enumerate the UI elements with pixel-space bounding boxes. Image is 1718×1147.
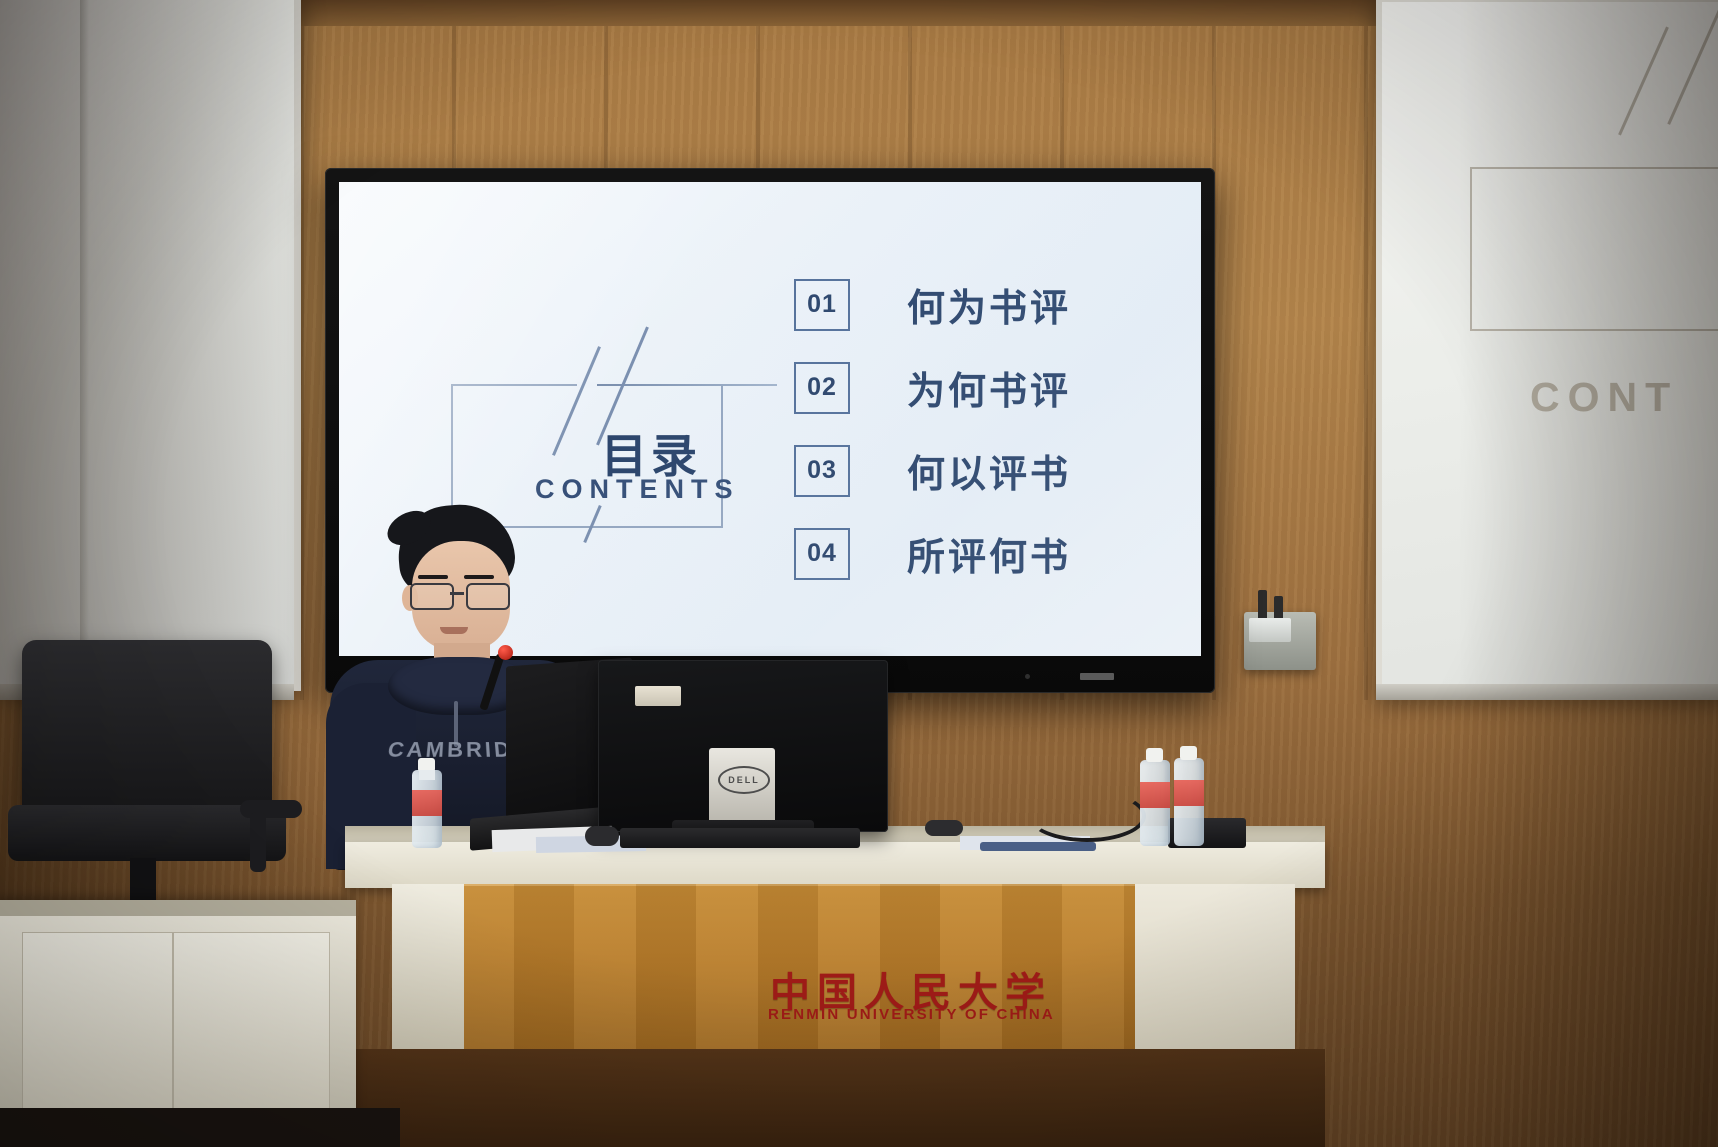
podium-right-panel [1135,884,1295,1049]
office-chair-back [22,640,272,820]
side-cabinet-door-seam [172,932,174,1128]
office-chair-post [130,858,156,906]
office-chair-armrest-post [250,812,266,872]
bottle-label [412,790,442,816]
glasses-icon [410,583,514,607]
podium-side-panel [392,884,464,1049]
marker-tray [1244,612,1316,670]
eyebrow [464,575,494,579]
bottle-label [1140,782,1170,808]
glasses-lens [410,583,454,610]
desk-microphone [925,820,963,836]
eraser-icon [1249,618,1291,642]
cable-coil [1028,790,1146,842]
side-cabinet-door[interactable] [22,932,330,1130]
list-item: 02 为何书评 [794,360,1071,415]
keyboard[interactable] [620,828,860,848]
glasses-bridge [450,592,464,595]
glasses-lens [466,583,510,610]
list-item: 01 何为书评 [794,277,1071,332]
list-item: 04 所评何书 [794,526,1071,581]
podium-base-shadow [345,1049,1325,1147]
power-led-icon [1025,674,1030,679]
slide-contents-list: 01 何为书评 02 为何书评 03 何以评书 04 所评何书 [794,277,1071,609]
item-number: 04 [794,528,850,580]
item-label: 何以评书 [907,443,1071,498]
item-number: 01 [794,279,850,331]
wall-shadow-right [1458,0,1718,1147]
bottle-cap [1180,746,1197,760]
display-brand-plate [1080,673,1114,680]
list-item: 03 何以评书 [794,443,1071,498]
screenshot-root: CONT 目录 CONTENTS 01 何为书评 [0,0,1718,1147]
mouse[interactable] [585,826,619,846]
side-cabinet-top [0,900,356,916]
item-number: 02 [794,362,850,414]
blue-folder [980,842,1096,851]
item-label: 为何书评 [907,360,1071,415]
item-number: 03 [794,445,850,497]
bottle-neck [419,770,435,780]
item-label: 所评何书 [907,526,1071,581]
floor [0,1108,400,1147]
item-label: 何为书评 [907,277,1071,332]
mouth [440,627,468,634]
slide-heading-en: CONTENTS [535,474,740,505]
monitor-brand-logo: DELL [718,766,770,794]
bottle-label [1174,780,1204,806]
university-name-en: RENMIN UNIVERSITY OF CHINA [768,1006,1055,1023]
monitor-asset-tag [635,686,681,706]
bottle-cap [1146,748,1163,762]
mic-icon [498,645,513,660]
eyebrow [418,575,448,579]
